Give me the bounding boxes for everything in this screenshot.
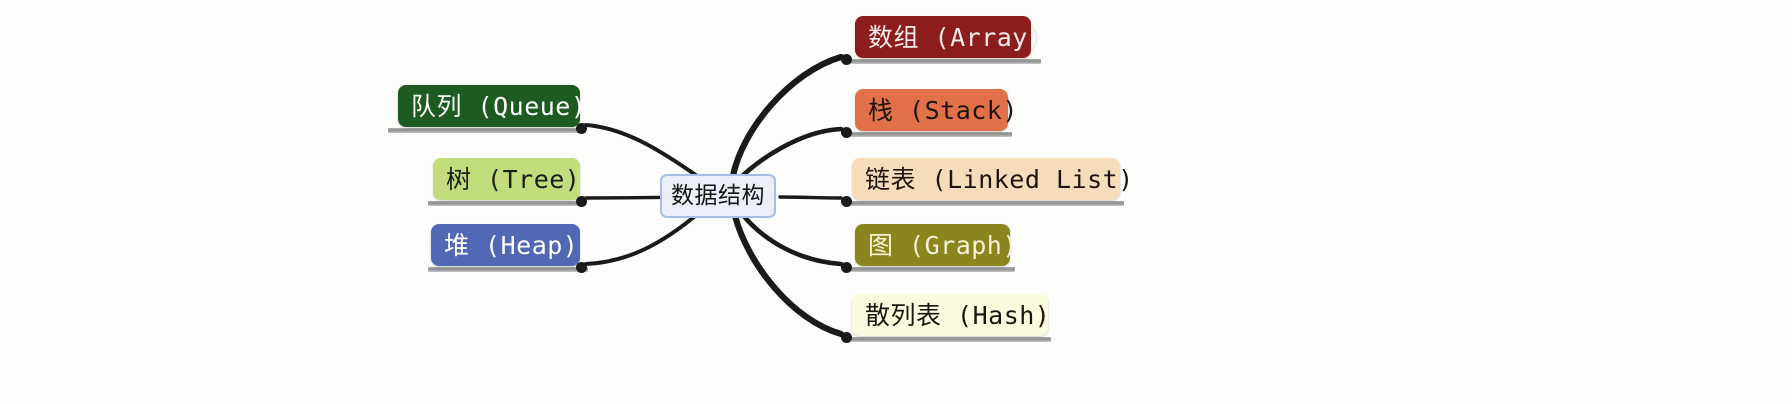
underline-bar-tree [428,201,586,206]
underline-bar-graph [849,267,1015,272]
mindmap-node-linkedlist[interactable]: 链表 (Linked List) [852,158,1120,200]
connector-dot-graph [841,262,852,273]
mindmap-node-center[interactable]: 数据结构 [660,174,776,218]
edge-heap [586,212,700,264]
edge-graph [742,214,841,264]
mindmap-node-heap[interactable]: 堆 (Heap) [431,224,580,266]
connector-dot-queue [576,123,587,134]
mindmap-node-graph[interactable]: 图 (Graph) [855,224,1010,266]
edge-queue [586,125,700,178]
connector-dot-linkedlist [841,196,852,207]
underline-bar-linkedlist [849,201,1124,206]
underline-bar-heap [428,267,588,272]
edge-stack [738,129,841,180]
underline-bar-array [849,59,1041,64]
underline-bar-queue [388,128,586,133]
mindmap-canvas: 队列 (Queue)树 (Tree)堆 (Heap)数组 (Array)栈 (S… [0,0,1792,404]
edge-array [733,57,841,176]
connector-dot-hash [841,332,852,343]
mindmap-node-queue[interactable]: 队列 (Queue) [398,85,580,127]
connector-dot-stack [841,127,852,138]
underline-bar-stack [849,132,1012,137]
mindmap-node-tree[interactable]: 树 (Tree) [433,158,580,200]
underline-bar-hash [849,337,1051,342]
connector-dot-tree [576,196,587,207]
edge-linkedlist [780,197,841,198]
mindmap-node-array[interactable]: 数组 (Array) [855,16,1031,58]
connector-dot-array [841,54,852,65]
mindmap-node-stack[interactable]: 栈 (Stack) [855,89,1008,131]
mindmap-node-hash[interactable]: 散列表 (Hash) [852,294,1048,336]
connector-dot-heap [576,262,587,273]
edge-hash [735,216,841,334]
